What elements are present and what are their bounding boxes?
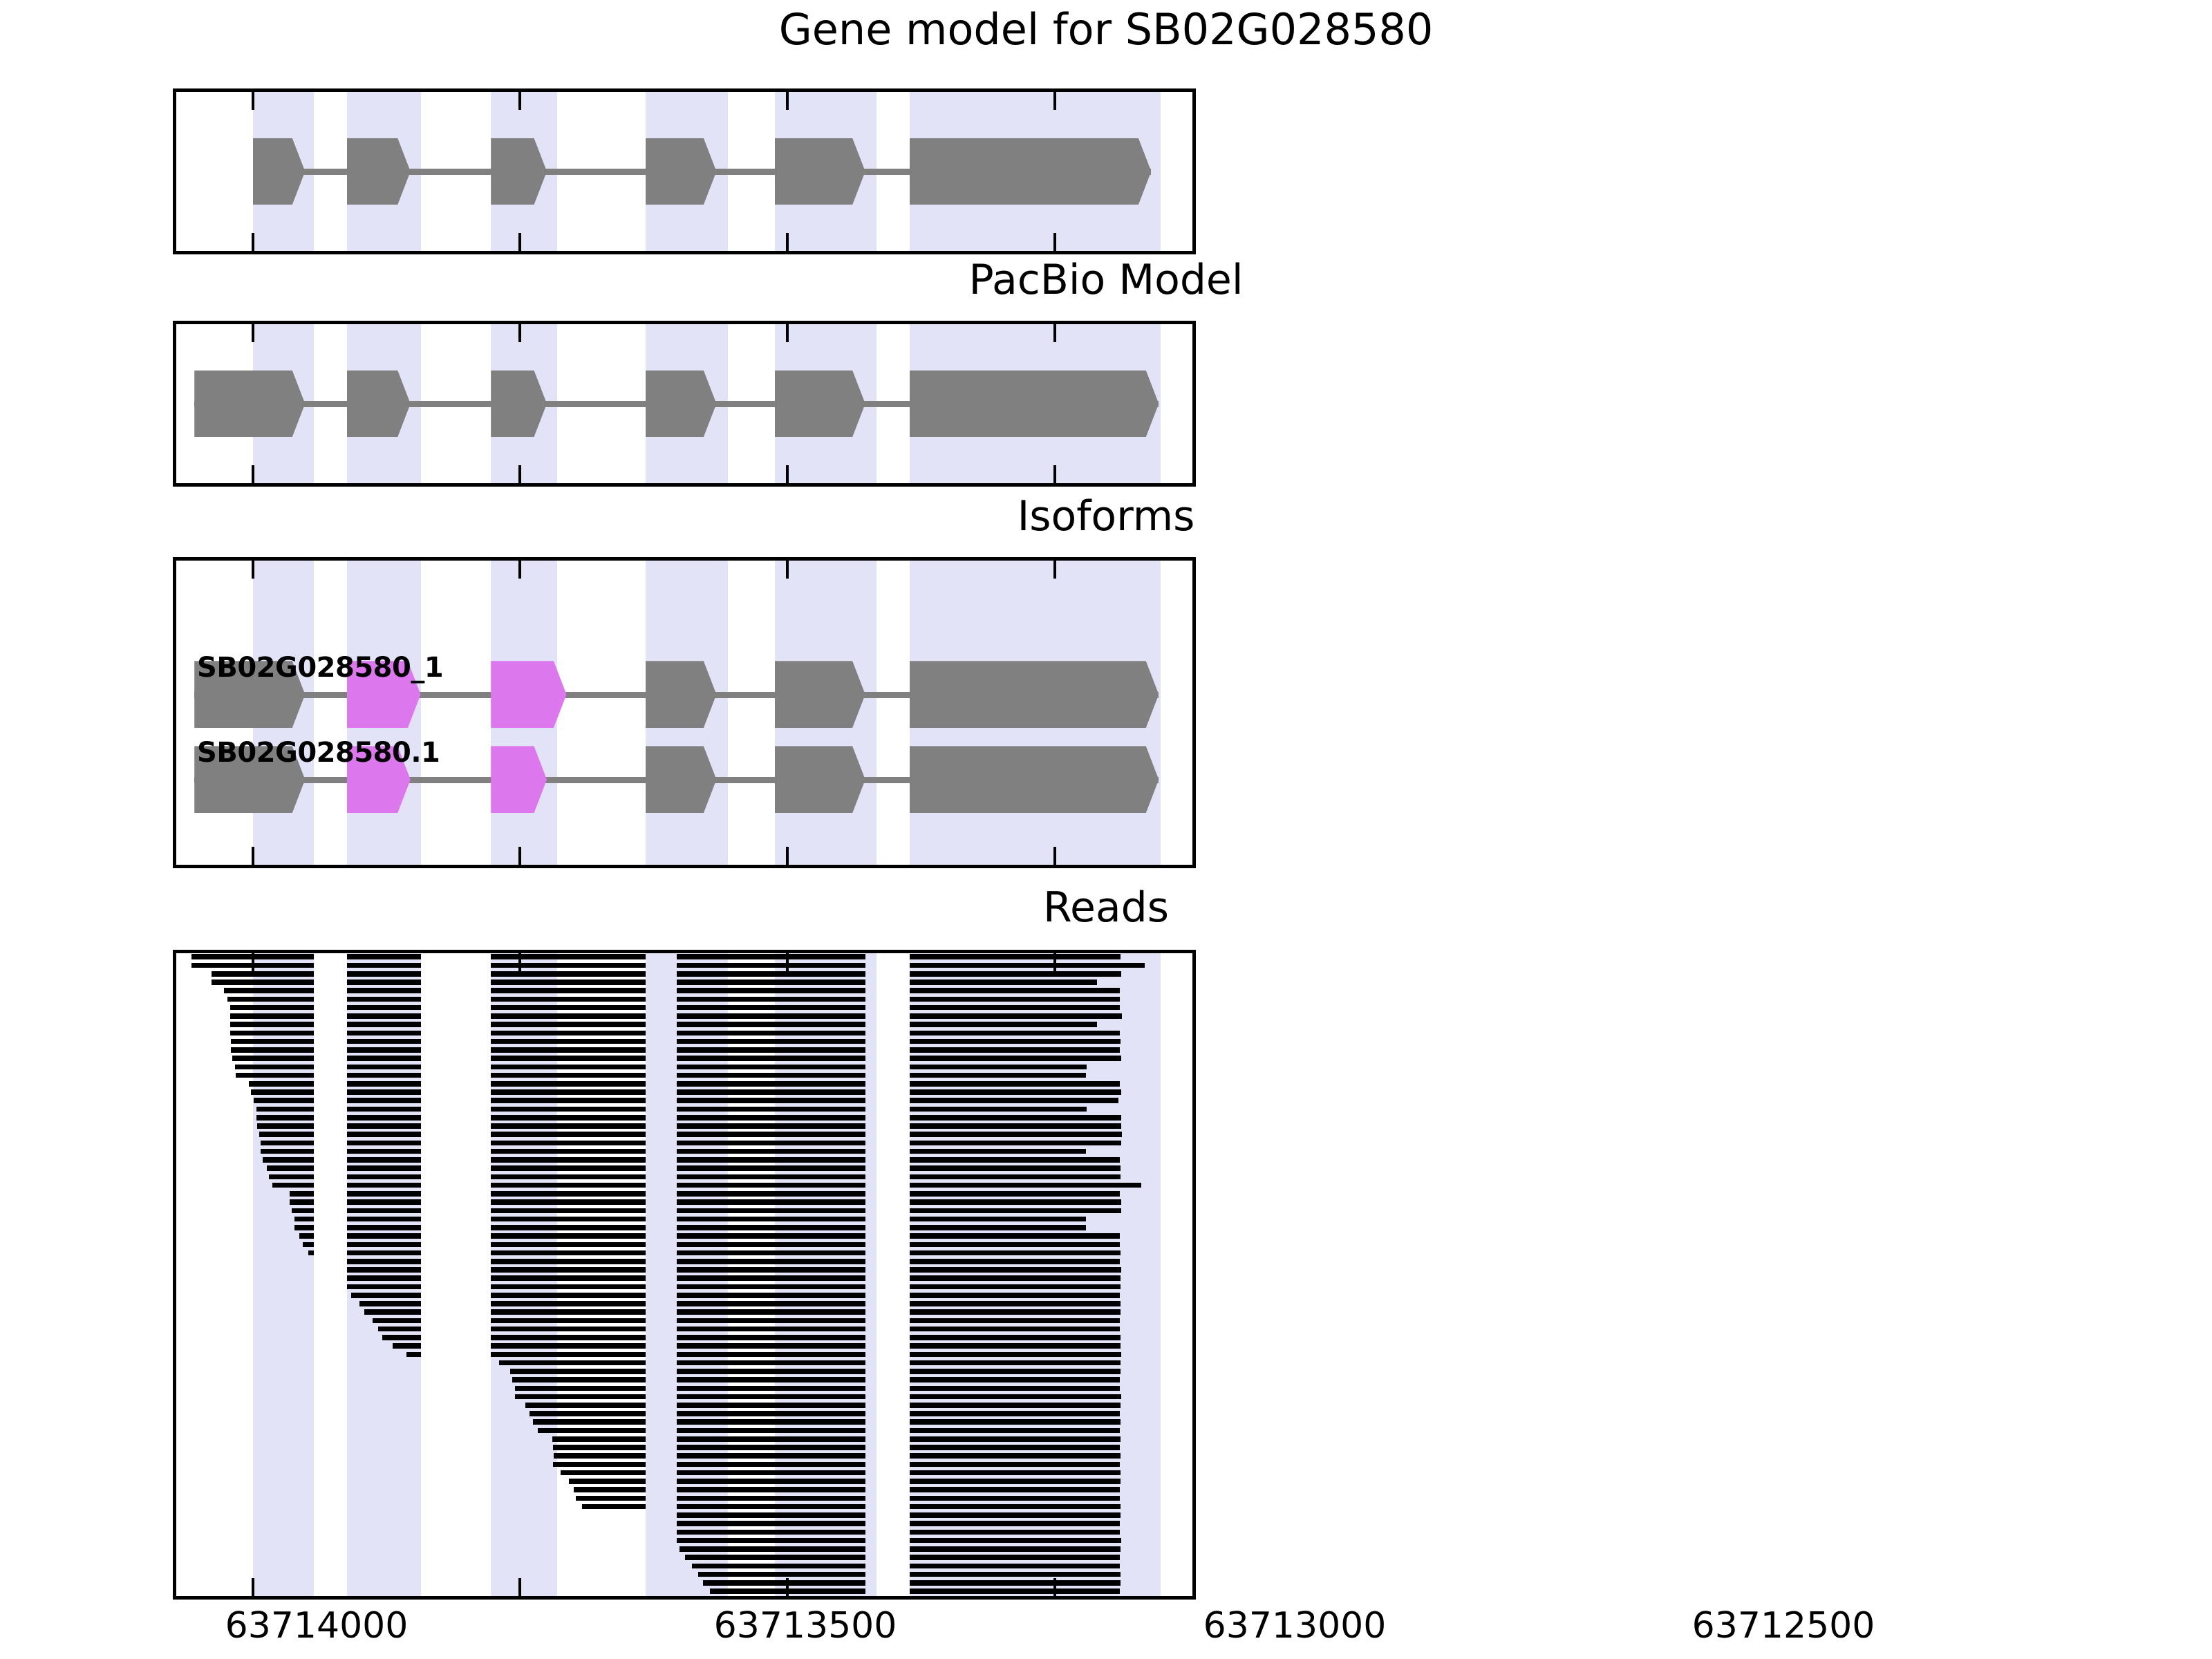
read-bar xyxy=(249,1081,314,1087)
axis-tick-mark xyxy=(252,465,254,483)
read-bar xyxy=(491,1031,646,1036)
axis-tick-mark xyxy=(786,465,789,483)
read-bar xyxy=(910,1123,1122,1129)
read-bar xyxy=(677,1309,865,1315)
read-bar xyxy=(910,1191,1120,1197)
read-bar xyxy=(677,1369,865,1374)
axis-tick-mark xyxy=(252,847,254,865)
read-bar xyxy=(910,1521,1120,1526)
axis-tick-mark xyxy=(252,92,254,110)
read-bar xyxy=(491,1267,646,1273)
read-bar xyxy=(910,1462,1120,1468)
read-bar xyxy=(910,1318,1120,1324)
read-bar xyxy=(677,1149,865,1154)
read-bar xyxy=(677,1470,865,1476)
read-bar xyxy=(677,1293,865,1298)
read-bar xyxy=(910,1098,1119,1103)
read-bar xyxy=(677,1335,865,1340)
read-bar xyxy=(910,1233,1120,1239)
read-bar xyxy=(910,1056,1122,1061)
read-bar xyxy=(574,1487,646,1492)
read-bar xyxy=(491,1165,646,1171)
read-bar xyxy=(491,1191,646,1197)
read-bar xyxy=(347,1115,421,1121)
read-bar xyxy=(299,1233,315,1239)
read-bar xyxy=(685,1555,865,1560)
axis-tick-mark xyxy=(518,233,521,251)
read-bar xyxy=(910,1496,1120,1501)
axis-tick-mark xyxy=(518,465,521,483)
exon xyxy=(194,371,305,438)
read-bar xyxy=(491,1259,646,1264)
axis-tick-mark xyxy=(1053,92,1056,110)
read-bar xyxy=(910,1149,1087,1154)
read-bar xyxy=(515,1394,646,1400)
read-bar xyxy=(677,971,865,977)
read-bar xyxy=(910,1479,1121,1484)
read-bar xyxy=(677,1275,865,1281)
read-bar xyxy=(230,1022,314,1027)
read-bar xyxy=(553,1462,646,1468)
read-bar xyxy=(677,988,865,993)
read-bar xyxy=(910,1453,1121,1459)
read-bar xyxy=(910,963,1129,968)
exon xyxy=(910,746,1159,813)
read-bar xyxy=(491,980,646,985)
read-bar xyxy=(910,1242,1120,1248)
read-bar xyxy=(677,1233,865,1239)
read-bar xyxy=(677,1445,865,1450)
axis-tick-mark xyxy=(518,847,521,865)
read-bar xyxy=(347,1149,421,1154)
read-bar xyxy=(677,1098,865,1103)
read-bar xyxy=(347,988,421,993)
panel-gene-model xyxy=(173,88,1196,254)
read-bar xyxy=(491,1081,646,1087)
read-bar xyxy=(910,1183,1129,1188)
read-bar xyxy=(677,1031,865,1036)
read-bar xyxy=(677,1487,865,1492)
read-bar xyxy=(910,1047,1120,1053)
read-bar xyxy=(491,997,646,1002)
read-bar xyxy=(910,1343,1121,1349)
read-bar xyxy=(230,1013,314,1019)
read-bar xyxy=(491,1217,646,1222)
read-bar xyxy=(382,1335,421,1340)
read-bar xyxy=(910,1546,1121,1552)
axis-tick-mark xyxy=(786,324,789,342)
read-bar xyxy=(491,1098,646,1103)
read-bar xyxy=(910,988,1120,993)
panel-reads xyxy=(173,950,1196,1600)
read-bar xyxy=(347,971,421,977)
read-bar xyxy=(677,1250,865,1256)
read-bar xyxy=(677,1183,865,1188)
read-bar xyxy=(1129,1183,1142,1188)
read-bar xyxy=(910,1470,1121,1476)
read-bar xyxy=(292,1208,315,1214)
read-bar xyxy=(910,1512,1121,1518)
read-bar xyxy=(677,980,865,985)
read-bar xyxy=(512,1377,646,1382)
read-bar xyxy=(515,1386,646,1391)
axis-tick-mark xyxy=(252,233,254,251)
read-bar xyxy=(347,1065,421,1070)
read-bar xyxy=(677,1504,865,1510)
read-bar xyxy=(910,1369,1121,1374)
read-bar xyxy=(677,997,865,1002)
isoform-label: SB02G028580.1 xyxy=(197,737,440,769)
panel-isoforms: SB02G028580_1SB02G028580.1 xyxy=(173,557,1196,868)
read-bar xyxy=(677,1462,865,1468)
read-bar xyxy=(347,1157,421,1163)
read-bar xyxy=(491,1335,646,1340)
read-bar xyxy=(491,1284,646,1290)
read-bar xyxy=(910,1436,1121,1442)
read-bar xyxy=(698,1572,865,1577)
read-bar xyxy=(910,1309,1121,1315)
panel-title-gene-model: Gene model for SB02G028580 xyxy=(0,4,2212,55)
exon xyxy=(347,371,411,438)
read-bar xyxy=(677,1005,865,1011)
read-bar xyxy=(910,1419,1121,1425)
read-bar xyxy=(256,1107,314,1112)
read-bar xyxy=(236,1073,315,1078)
read-bar xyxy=(491,1250,646,1256)
read-bar xyxy=(533,1419,646,1425)
read-bar xyxy=(677,1089,865,1095)
read-bar xyxy=(393,1343,420,1349)
read-bar xyxy=(491,1225,646,1230)
read-bar xyxy=(677,1352,865,1358)
read-bar xyxy=(359,1301,421,1306)
read-bar xyxy=(347,1208,421,1214)
read-bar xyxy=(347,1073,421,1078)
read-bar xyxy=(582,1504,646,1510)
read-bar xyxy=(347,1056,421,1061)
read-bar xyxy=(491,1352,646,1358)
axis-tick-mark xyxy=(252,1578,254,1596)
read-bar xyxy=(259,1132,314,1137)
read-bar xyxy=(347,1225,421,1230)
read-bar xyxy=(499,1360,646,1366)
read-bar xyxy=(347,1022,421,1027)
read-bar xyxy=(231,1047,314,1053)
exon xyxy=(775,138,865,205)
read-bar xyxy=(491,1073,646,1078)
read-bar xyxy=(491,1233,646,1239)
read-bar xyxy=(677,1318,865,1324)
read-bar xyxy=(347,963,421,968)
read-bar xyxy=(910,1225,1087,1230)
axis-tick-mark xyxy=(518,561,521,579)
read-bar xyxy=(677,1419,865,1425)
axis-tick-mark xyxy=(252,561,254,579)
read-bar xyxy=(677,1199,865,1205)
x-axis-tick-label: 63714000 xyxy=(225,1605,409,1647)
read-bar xyxy=(373,1318,420,1324)
read-bar xyxy=(677,1377,865,1382)
axis-tick-mark xyxy=(518,324,521,342)
read-bar xyxy=(677,1107,865,1112)
exon xyxy=(646,371,717,438)
read-bar xyxy=(347,1242,421,1248)
read-bar xyxy=(910,1327,1120,1332)
read-bar xyxy=(256,1115,314,1121)
read-bar xyxy=(910,1335,1121,1340)
read-bar xyxy=(677,1065,865,1070)
read-bar xyxy=(910,1157,1120,1163)
read-bar xyxy=(910,1089,1121,1095)
read-bar xyxy=(1129,963,1145,968)
exon xyxy=(910,138,1152,205)
axis-tick-mark xyxy=(786,561,789,579)
panel-title-reads: Reads xyxy=(0,883,2212,932)
read-bar xyxy=(703,1580,865,1586)
read-bar xyxy=(910,1039,1121,1044)
read-bar xyxy=(554,1453,646,1459)
read-bar xyxy=(261,1141,315,1146)
read-bar xyxy=(677,1132,865,1137)
read-bar xyxy=(569,1479,646,1484)
read-bar xyxy=(231,1039,314,1044)
exon xyxy=(910,661,1159,728)
read-bar xyxy=(347,954,421,959)
read-bar xyxy=(910,1403,1121,1408)
axis-tick-mark xyxy=(786,847,789,865)
read-bar xyxy=(677,1360,865,1366)
axis-tick-mark xyxy=(1053,324,1056,342)
read-bar xyxy=(529,1411,646,1416)
x-axis-tick-label: 63712500 xyxy=(1692,1605,1875,1647)
read-bar xyxy=(491,1183,646,1188)
read-bar xyxy=(347,1081,421,1087)
read-bar xyxy=(257,1123,314,1129)
read-bar xyxy=(347,1217,421,1222)
read-bar xyxy=(677,1141,865,1146)
exon xyxy=(775,746,865,813)
read-bar xyxy=(347,1250,421,1256)
read-bar xyxy=(491,1013,646,1019)
read-bar xyxy=(491,1293,646,1298)
read-bar xyxy=(677,1174,865,1180)
read-bar xyxy=(910,1217,1087,1222)
read-bar xyxy=(347,1039,421,1044)
read-bar xyxy=(677,1538,865,1544)
axis-tick-mark xyxy=(518,1578,521,1596)
read-bar xyxy=(910,1013,1122,1019)
read-bar xyxy=(347,1132,421,1137)
read-bar xyxy=(677,1039,865,1044)
read-bar xyxy=(910,1250,1121,1256)
exon xyxy=(910,371,1159,438)
read-bar xyxy=(347,997,421,1002)
read-bar xyxy=(910,1588,1120,1594)
read-bar xyxy=(347,1233,421,1239)
read-bar xyxy=(677,1013,865,1019)
read-bar xyxy=(910,1530,1120,1535)
read-bar xyxy=(910,1580,1121,1586)
panel-title-pacbio: PacBio Model xyxy=(0,256,2212,304)
read-bar xyxy=(910,1031,1120,1036)
read-bar xyxy=(677,1217,865,1222)
read-bar xyxy=(347,1005,421,1011)
read-bar xyxy=(347,1013,421,1019)
read-bar xyxy=(347,1098,421,1103)
x-axis-tick-label: 63713000 xyxy=(1203,1605,1387,1647)
read-bar xyxy=(677,1191,865,1197)
read-bar xyxy=(491,1056,646,1061)
panel-title-isoforms: Isoforms xyxy=(0,492,2212,541)
read-bar xyxy=(491,1141,646,1146)
read-bar xyxy=(491,1174,646,1180)
read-bar xyxy=(677,1521,865,1526)
read-bar xyxy=(677,1047,865,1053)
read-bar xyxy=(677,1496,865,1501)
read-bar xyxy=(224,988,314,993)
read-bar xyxy=(576,1496,646,1501)
read-bar xyxy=(910,1107,1087,1112)
read-bar xyxy=(910,1360,1121,1366)
read-bar xyxy=(491,954,646,959)
read-bar xyxy=(525,1403,646,1408)
read-bar xyxy=(347,1183,421,1188)
read-bar xyxy=(910,1487,1120,1492)
read-bar xyxy=(710,1588,865,1594)
read-bar xyxy=(910,954,1121,959)
read-bar xyxy=(491,1208,646,1214)
read-bar xyxy=(491,1301,646,1306)
read-bar xyxy=(910,1199,1122,1205)
read-bar xyxy=(347,1267,421,1273)
read-bar xyxy=(347,1275,421,1281)
read-bar xyxy=(910,1115,1122,1121)
read-bar xyxy=(191,954,315,959)
read-bar xyxy=(261,1149,315,1154)
read-bar xyxy=(910,1065,1087,1070)
read-bar xyxy=(677,1327,865,1332)
read-bar xyxy=(677,1512,865,1518)
read-bar xyxy=(308,1250,314,1256)
read-bar xyxy=(347,1199,421,1205)
read-bar xyxy=(267,1165,314,1171)
read-bar xyxy=(677,1022,865,1027)
isoform-label: SB02G028580_1 xyxy=(197,652,443,684)
read-bar xyxy=(347,1123,421,1129)
read-bar xyxy=(677,1436,865,1442)
read-bar xyxy=(510,1369,646,1374)
exon xyxy=(775,661,865,728)
read-bar xyxy=(347,1174,421,1180)
exon xyxy=(775,371,865,438)
read-bar xyxy=(347,1031,421,1036)
read-bar xyxy=(677,1394,865,1400)
gene-model-figure: Gene model for SB02G028580 PacBio Model … xyxy=(0,0,2212,1659)
axis-tick-mark xyxy=(1053,847,1056,865)
read-bar xyxy=(561,1470,646,1476)
read-bar xyxy=(910,1259,1120,1264)
read-bar xyxy=(212,980,315,985)
read-bar xyxy=(303,1242,314,1248)
read-bar xyxy=(491,1047,646,1053)
exon xyxy=(347,138,411,205)
read-bar xyxy=(491,971,646,977)
read-bar xyxy=(351,1293,421,1298)
read-bar xyxy=(677,1123,865,1129)
axis-tick-mark xyxy=(1053,233,1056,251)
read-bar xyxy=(227,997,315,1002)
read-bar xyxy=(910,1174,1121,1180)
read-bar xyxy=(910,1555,1120,1560)
read-bar xyxy=(553,1445,646,1450)
axis-tick-mark xyxy=(1053,465,1056,483)
read-bar xyxy=(677,1225,865,1230)
read-bar xyxy=(910,1293,1120,1298)
read-bar xyxy=(251,1089,315,1095)
read-bar xyxy=(910,1301,1121,1306)
read-bar xyxy=(491,1309,646,1315)
read-bar xyxy=(347,1047,421,1053)
read-bar xyxy=(679,1546,865,1552)
read-bar xyxy=(677,1157,865,1163)
read-bar xyxy=(406,1352,420,1358)
read-bar xyxy=(364,1309,421,1315)
read-bar xyxy=(230,1031,314,1036)
read-bar xyxy=(378,1327,420,1332)
read-bar xyxy=(491,1065,646,1070)
read-bar xyxy=(347,1259,421,1264)
read-bar xyxy=(677,954,865,959)
read-bar xyxy=(232,1056,314,1061)
read-bar xyxy=(677,1081,865,1087)
read-bar xyxy=(235,1065,315,1070)
read-bar xyxy=(677,1403,865,1408)
read-bar xyxy=(290,1199,314,1205)
read-bar xyxy=(910,1411,1120,1416)
read-bar xyxy=(491,988,646,993)
read-bar xyxy=(677,1428,865,1434)
read-bar xyxy=(491,1132,646,1137)
read-bar xyxy=(677,1343,865,1349)
read-bar xyxy=(677,1267,865,1273)
read-bar xyxy=(910,1538,1121,1544)
read-bar xyxy=(491,1115,646,1121)
read-bar xyxy=(491,1107,646,1112)
read-bar xyxy=(910,1275,1121,1281)
read-bar xyxy=(491,1343,646,1349)
read-bar xyxy=(347,1107,421,1112)
read-bar xyxy=(491,1318,646,1324)
axis-tick-mark xyxy=(786,92,789,110)
read-bar xyxy=(491,1039,646,1044)
axis-tick-mark xyxy=(252,324,254,342)
read-bar xyxy=(677,1386,865,1391)
read-bar xyxy=(910,980,1097,985)
read-bar xyxy=(910,1572,1121,1577)
read-bar xyxy=(263,1157,314,1163)
read-bar xyxy=(491,1089,646,1095)
read-bar xyxy=(910,1165,1121,1171)
read-bar xyxy=(910,1073,1087,1078)
read-bar xyxy=(347,1191,421,1197)
read-bar xyxy=(491,1123,646,1129)
read-bar xyxy=(347,1089,421,1095)
read-bar xyxy=(294,1217,314,1222)
exon xyxy=(646,138,717,205)
read-bar xyxy=(910,1005,1120,1011)
read-bar xyxy=(269,1174,315,1180)
axis-tick-mark xyxy=(518,92,521,110)
